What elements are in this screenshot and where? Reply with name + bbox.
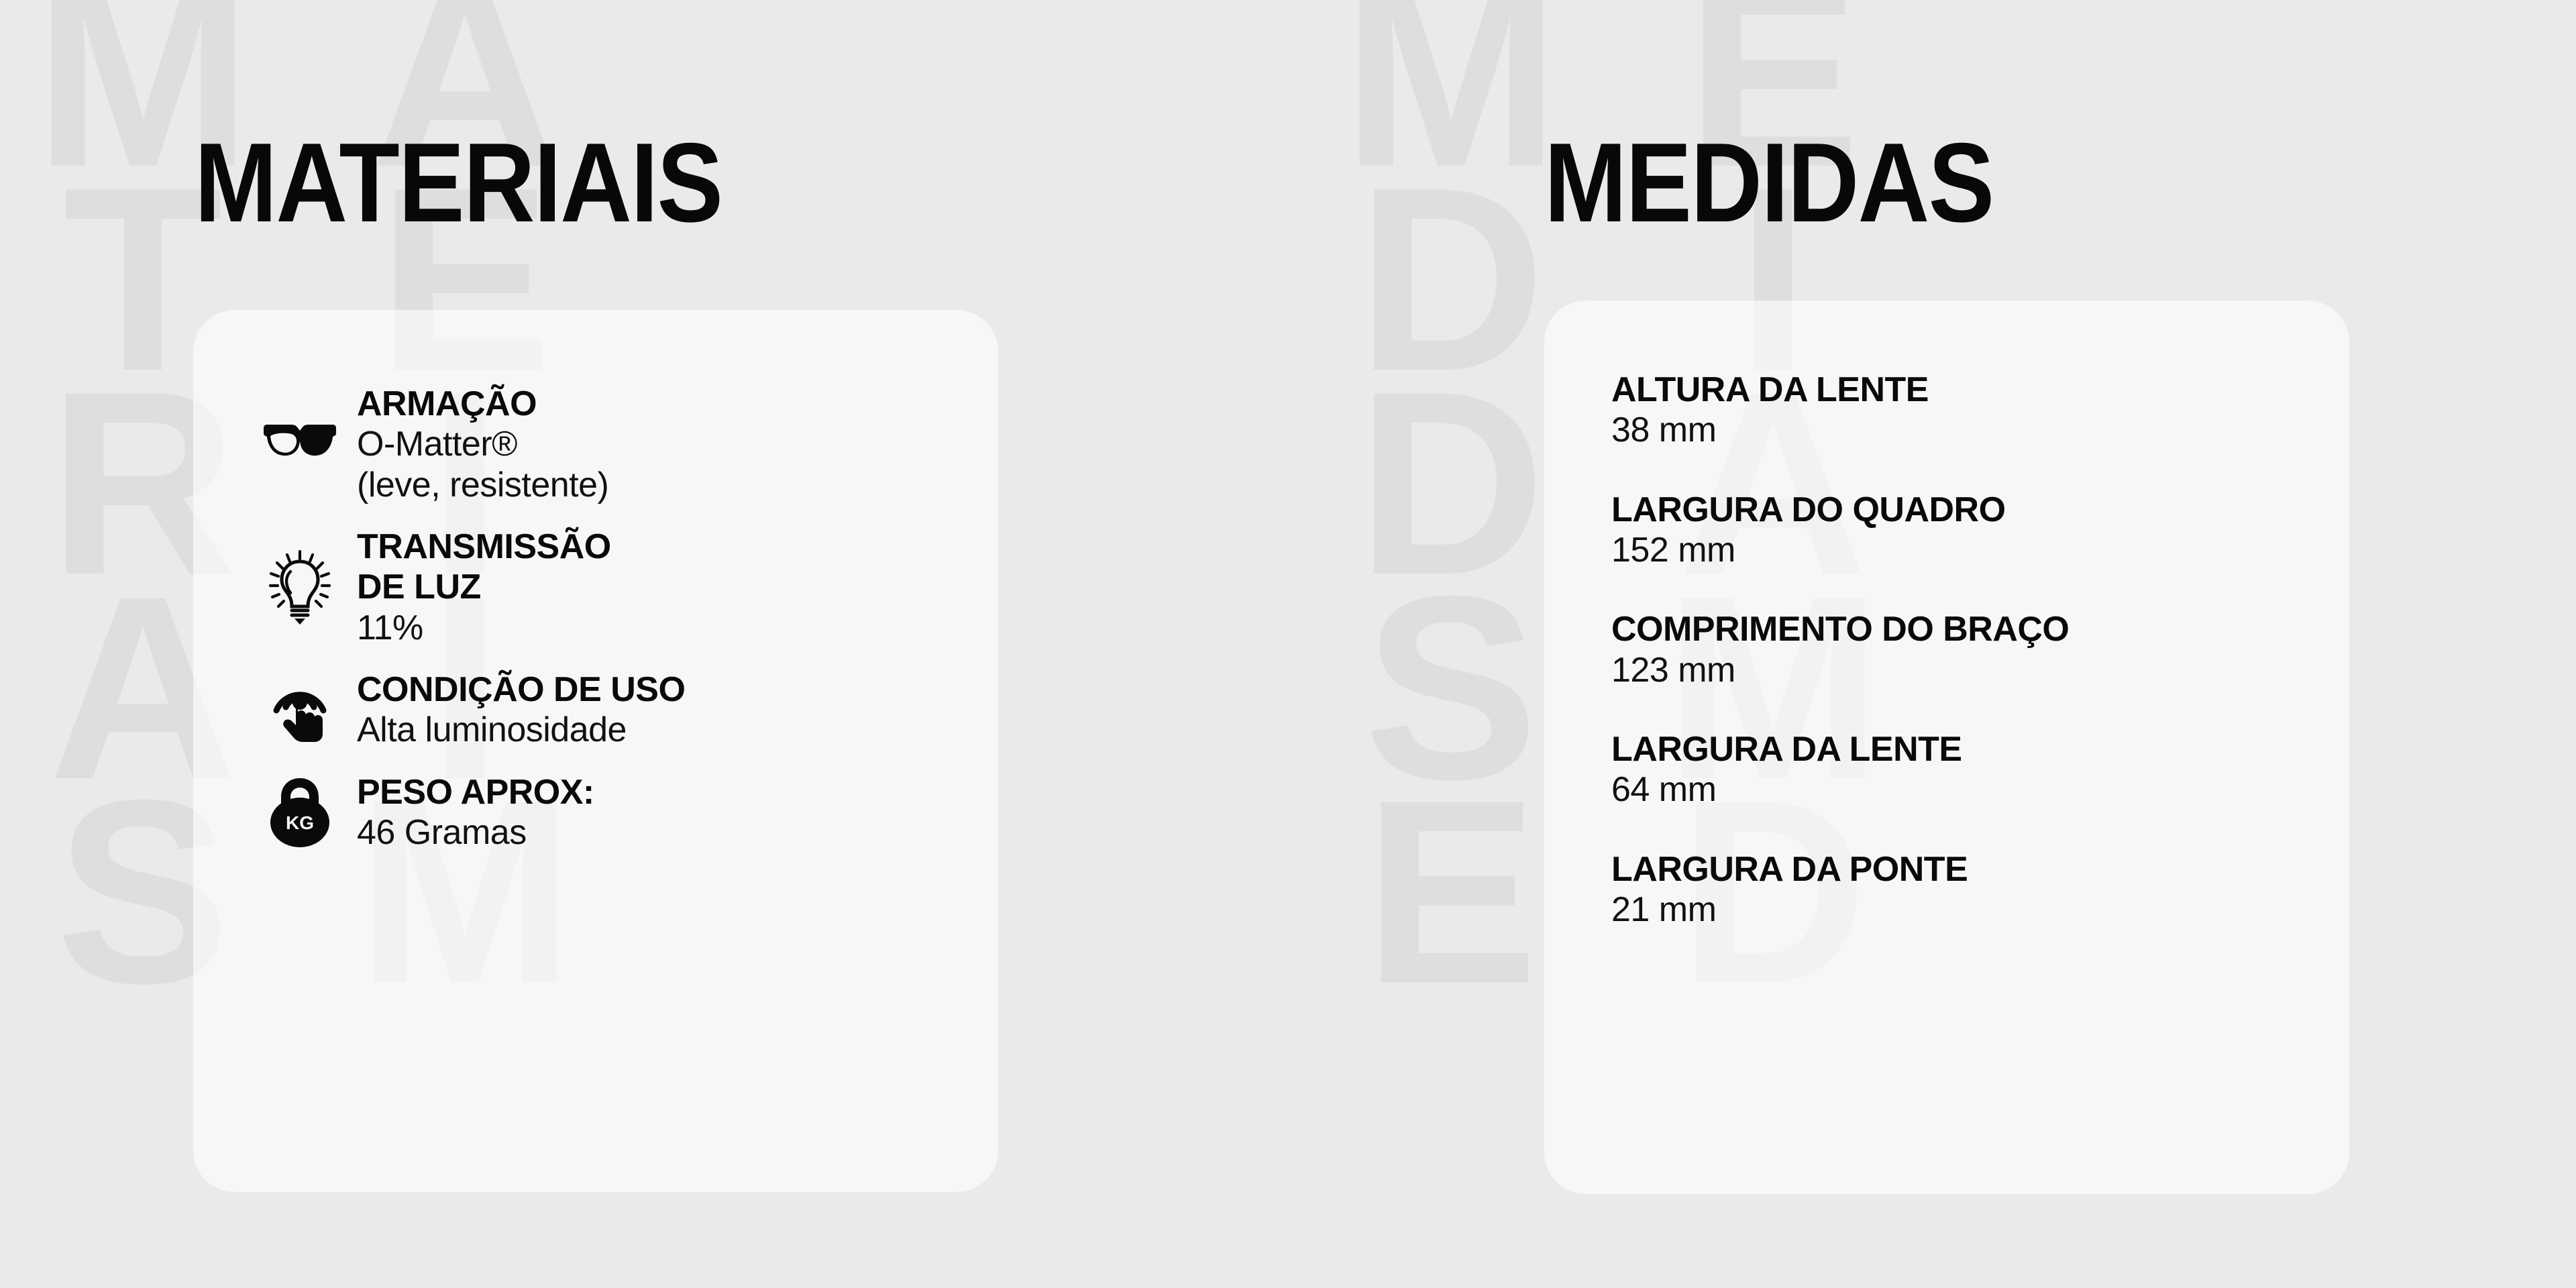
list-item: LARGURA DO QUADRO 152 mm xyxy=(1611,490,2322,572)
measurements-card: ALTURA DA LENTE 38 mm LARGURA DO QUADRO … xyxy=(1544,301,2349,1194)
glasses-icon xyxy=(260,405,339,484)
measurement-label: LARGURA DA PONTE xyxy=(1611,850,2322,890)
list-item: CONDIÇÃO DE USO Alta luminosidade xyxy=(260,669,971,751)
spec-sheet: MATERIAIS ARMAÇÃO O-Matter® (leve, resis… xyxy=(0,0,2576,1288)
list-item: ARMAÇÃO O-Matter® (leve, resistente) xyxy=(260,384,971,505)
measurements-column: MEDIDAS ALTURA DA LENTE 38 mm LARGURA DO… xyxy=(1288,0,2576,1288)
material-label: ARMAÇÃO xyxy=(357,384,608,424)
material-label: TRANSMISSÃO DE LUZ xyxy=(357,527,611,608)
measurements-list: ALTURA DA LENTE 38 mm LARGURA DO QUADRO … xyxy=(1611,370,2322,930)
material-label: CONDIÇÃO DE USO xyxy=(357,669,685,710)
measurements-title: MEDIDAS xyxy=(1544,126,1993,239)
list-item: LARGURA DA LENTE 64 mm xyxy=(1611,730,2322,811)
material-value: 11% xyxy=(357,608,611,648)
measurement-label: COMPRIMENTO DO BRAÇO xyxy=(1611,610,2322,649)
materials-title: MATERIAIS xyxy=(195,126,722,239)
material-label: PESO APROX: xyxy=(357,772,594,812)
material-value: 46 Gramas xyxy=(357,812,594,853)
list-item-text: ARMAÇÃO O-Matter® (leve, resistente) xyxy=(357,384,608,505)
list-item: COMPRIMENTO DO BRAÇO 123 mm xyxy=(1611,610,2322,691)
list-item: LARGURA DA PONTE 21 mm xyxy=(1611,850,2322,931)
lightbulb-icon xyxy=(260,547,339,627)
list-item-text: CONDIÇÃO DE USO Alta luminosidade xyxy=(357,669,685,751)
weight-kg-icon: KG xyxy=(260,773,339,852)
measurement-value: 21 mm xyxy=(1611,890,2322,930)
list-item: ALTURA DA LENTE 38 mm xyxy=(1611,370,2322,451)
measurement-value: 38 mm xyxy=(1611,410,2322,451)
measurement-label: ALTURA DA LENTE xyxy=(1611,370,2322,410)
measurement-value: 64 mm xyxy=(1611,769,2322,810)
measurement-value: 123 mm xyxy=(1611,650,2322,691)
list-item-text: TRANSMISSÃO DE LUZ 11% xyxy=(357,527,611,648)
material-value: Alta luminosidade xyxy=(357,710,685,750)
list-item: KG PESO APROX: 46 Gramas xyxy=(260,772,971,853)
measurement-label: LARGURA DO QUADRO xyxy=(1611,490,2322,530)
list-item-text: PESO APROX: 46 Gramas xyxy=(357,772,594,853)
measurement-label: LARGURA DA LENTE xyxy=(1611,730,2322,769)
materials-list: ARMAÇÃO O-Matter® (leve, resistente) xyxy=(260,384,971,853)
touch-tap-icon xyxy=(260,670,339,749)
list-item: TRANSMISSÃO DE LUZ 11% xyxy=(260,527,971,648)
materials-card: ARMAÇÃO O-Matter® (leve, resistente) xyxy=(193,310,998,1192)
material-value: O-Matter® (leve, resistente) xyxy=(357,424,608,505)
svg-text:KG: KG xyxy=(286,812,314,833)
materials-column: MATERIAIS ARMAÇÃO O-Matter® (leve, resis… xyxy=(0,0,1288,1288)
measurement-value: 152 mm xyxy=(1611,530,2322,571)
